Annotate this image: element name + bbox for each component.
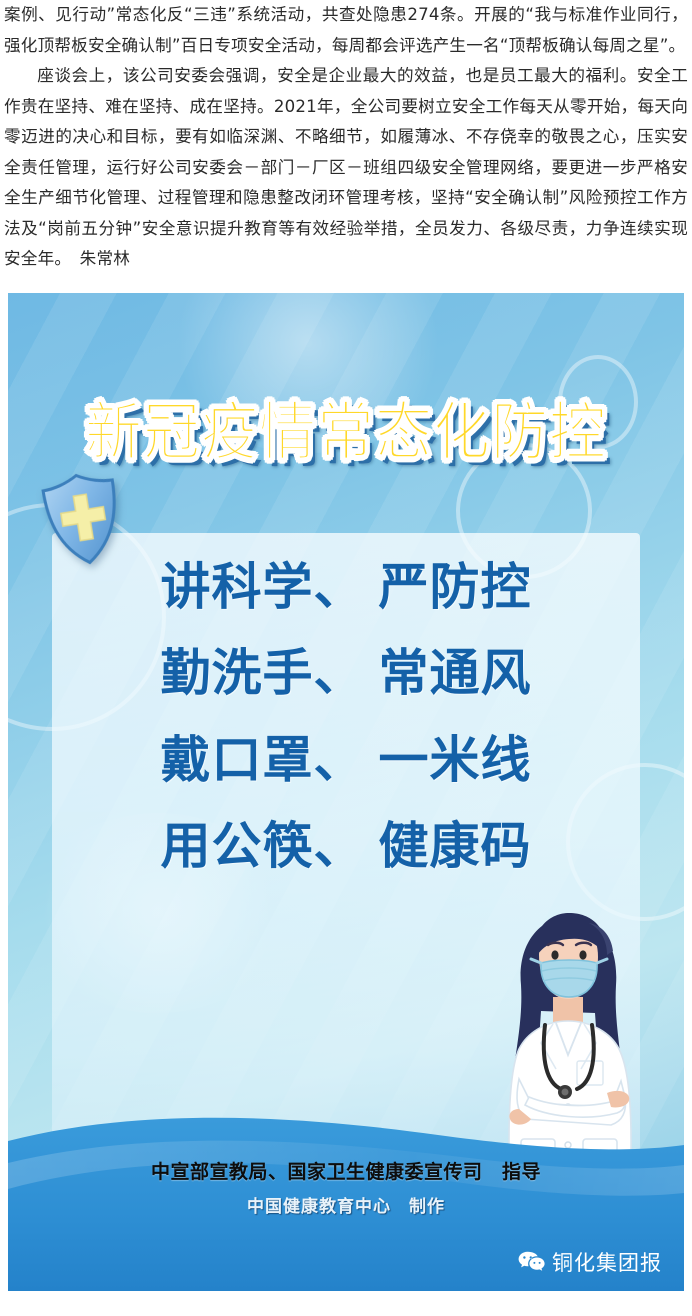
slogan-left: 用公筷、 bbox=[161, 820, 365, 873]
slogan-right: 严防控 bbox=[379, 561, 532, 614]
slogan-line: 讲科学、 严防控 bbox=[52, 561, 640, 614]
poster-title-area: 新冠疫情常态化防控 bbox=[8, 405, 684, 462]
shield-cross-icon bbox=[37, 467, 128, 570]
wechat-icon bbox=[518, 1251, 545, 1273]
slogan-left: 戴口罩、 bbox=[161, 734, 365, 787]
slogan-right: 健康码 bbox=[379, 820, 532, 873]
slogan-left: 勤洗手、 bbox=[161, 647, 365, 700]
article-paragraph: 案例、见行动”常态化反“三违”系统活动，共查处隐患274条。开展的“我与标准作业… bbox=[4, 0, 688, 61]
slogan-right: 常通风 bbox=[379, 647, 532, 700]
slogan-list: 讲科学、 严防控 勤洗手、 常通风 戴口罩、 一米线 用公筷、 健康码 bbox=[52, 561, 640, 907]
watermark-label: 铜化集团报 bbox=[552, 1247, 662, 1277]
article-paragraph: 座谈会上，该公司安委会强调，安全是企业最大的效益，也是员工最大的福利。安全工作贵… bbox=[4, 61, 688, 275]
slogan-left: 讲科学、 bbox=[161, 561, 365, 614]
slogan-line: 戴口罩、 一米线 bbox=[52, 734, 640, 787]
slogan-line: 勤洗手、 常通风 bbox=[52, 647, 640, 700]
poster-footer: 中宣部宣教局、国家卫生健康委宣传司 指导 中国健康教育中心 制作 bbox=[8, 1157, 684, 1217]
credit-producer: 中国健康教育中心 制作 bbox=[8, 1192, 684, 1217]
article-body: 案例、见行动”常态化反“三违”系统活动，共查处隐患274条。开展的“我与标准作业… bbox=[0, 0, 692, 275]
credit-guidance: 中宣部宣教局、国家卫生健康委宣传司 指导 bbox=[8, 1157, 684, 1184]
poster-title: 新冠疫情常态化防控 bbox=[85, 401, 607, 465]
slogan-right: 一米线 bbox=[379, 734, 532, 787]
slogan-line: 用公筷、 健康码 bbox=[52, 820, 640, 873]
wechat-watermark: 铜化集团报 bbox=[518, 1247, 662, 1277]
covid-prevention-poster: 新冠疫情常态化防控 讲科学、 严防控 勤洗手、 常通风 戴口罩、 一米线 bbox=[8, 293, 684, 1291]
